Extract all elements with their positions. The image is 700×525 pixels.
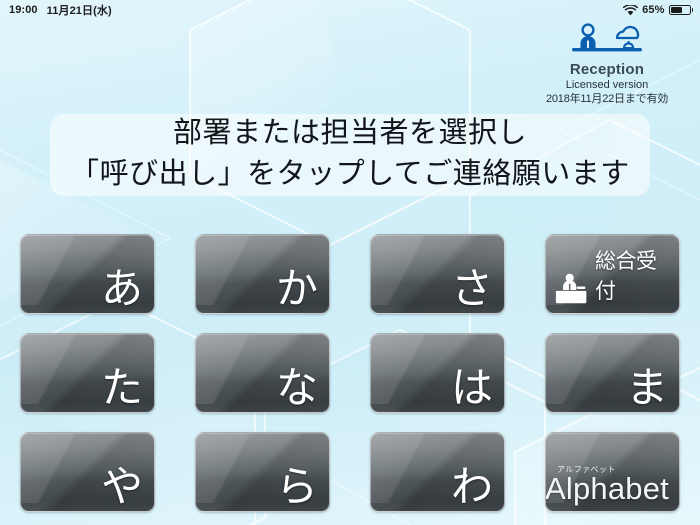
tile-label: Alphabet — [545, 471, 669, 507]
reception-brand-name: Reception — [522, 61, 692, 78]
tile-label: あ — [101, 265, 143, 312]
tile-label: か — [276, 265, 318, 312]
battery-percent-label: 65% — [642, 4, 664, 16]
tile-ma[interactable]: ま — [545, 333, 680, 413]
selection-grid: あかさ総合受付たなはまやらわアルファベットAlphabet — [20, 234, 680, 512]
tile-label: さ — [451, 265, 493, 312]
tile-sa[interactable]: さ — [370, 234, 505, 314]
reception-desk-icon — [554, 271, 592, 307]
page-title-line1: 部署または担当者を選択し — [0, 112, 700, 153]
status-bar: 19:00 11月21日(水) 65% — [0, 0, 700, 20]
tile-label: は — [451, 364, 493, 411]
wifi-icon — [623, 5, 638, 16]
reception-brand-block: Reception Licensed version 2018年11月22日まで… — [522, 22, 692, 106]
license-expiry-label: 2018年11月22日まで有効 — [522, 92, 692, 106]
status-bar-right: 65% — [623, 4, 693, 16]
tile-ta[interactable]: た — [20, 333, 155, 413]
reception-desk-cloud-icon — [564, 22, 650, 62]
tile-ra[interactable]: ら — [195, 432, 330, 512]
tile-label: わ — [451, 463, 493, 510]
tile-label: ら — [276, 463, 318, 510]
page-title-line2: 「呼び出し」をタップしてご連絡願います — [0, 153, 700, 194]
status-bar-left: 19:00 11月21日(水) — [9, 2, 112, 18]
app-screen: 19:00 11月21日(水) 65% — [0, 0, 700, 525]
tile-ya[interactable]: や — [20, 432, 155, 512]
tile-ha[interactable]: は — [370, 333, 505, 413]
status-time: 19:00 — [9, 4, 38, 16]
tile-alphabet[interactable]: アルファベットAlphabet — [545, 432, 680, 512]
tile-na[interactable]: な — [195, 333, 330, 413]
license-version-label: Licensed version — [522, 78, 692, 92]
page-title: 部署または担当者を選択し 「呼び出し」をタップしてご連絡願います — [0, 112, 700, 194]
tile-ka[interactable]: か — [195, 234, 330, 314]
tile-general-reception[interactable]: 総合受付 — [545, 234, 680, 314]
tile-label: ま — [626, 364, 668, 411]
status-date: 11月21日(水) — [47, 2, 112, 18]
tile-a[interactable]: あ — [20, 234, 155, 314]
tile-label: た — [101, 364, 143, 411]
tile-label: 総合受付 — [595, 245, 673, 307]
battery-icon — [669, 5, 694, 15]
tile-reception-content: 総合受付 — [554, 245, 673, 307]
tile-label: な — [276, 364, 318, 411]
tile-label: や — [101, 463, 143, 510]
tile-wa[interactable]: わ — [370, 432, 505, 512]
